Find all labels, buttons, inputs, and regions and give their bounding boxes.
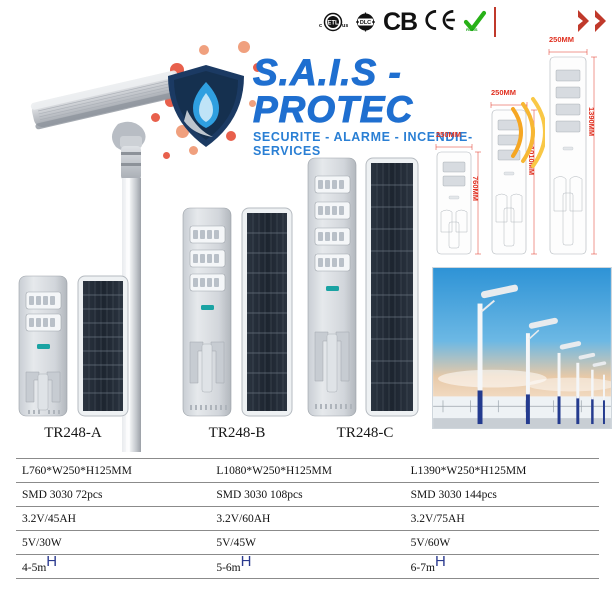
height-symbol-icon: H (46, 553, 57, 570)
tech-height-label-c: 1390MM (587, 107, 596, 136)
chevron-right-icon[interactable] (593, 8, 609, 34)
tech-outline-c (543, 45, 601, 258)
product-photo-tr248-a (8, 268, 138, 428)
svg-text:c: c (319, 23, 322, 29)
next-page-chevrons[interactable] (576, 8, 609, 34)
height-value-b: 5-6m (216, 562, 240, 574)
product-label-tr248-b: TR248-B (172, 425, 302, 442)
cell-height-c: 6-7mH (405, 555, 599, 579)
product-sheet-page: c ETL us DLC CB (0, 0, 615, 600)
cell-battery-b: 3.2V/60AH (210, 507, 404, 531)
installation-photo (432, 267, 612, 429)
svg-text:ETL: ETL (327, 21, 339, 27)
cert-divider (494, 7, 496, 37)
cell-leds-a: SMD 3030 72pcs (16, 483, 210, 507)
cb-icon: CB (383, 10, 417, 35)
etl-listed-icon: c ETL us (318, 11, 348, 33)
cell-height-b: 5-6mH (210, 555, 404, 579)
cell-dimensions-a: L760*W250*H125MM (16, 459, 210, 483)
tech-width-label-c: 250MM (549, 35, 574, 44)
signal-waves-icon (505, 95, 545, 170)
cell-height-a: 4-5mH (16, 555, 210, 579)
table-row: L760*W250*H125MM L1080*W250*H125MM L1390… (16, 459, 599, 483)
table-row: 3.2V/45AH 3.2V/60AH 3.2V/75AH (16, 507, 599, 531)
cell-battery-c: 3.2V/75AH (405, 507, 599, 531)
cell-solar-a: 5V/30W (16, 531, 210, 555)
sais-protec-watermark: S.A.I.S - PROTEC SECURITE - ALARME - INC… (163, 62, 533, 150)
height-symbol-icon: H (241, 553, 252, 570)
street-lights-scene (433, 268, 611, 428)
product-unit-tr248-b: TR248-B (172, 200, 302, 428)
specifications-table: L760*W250*H125MM L1080*W250*H125MM L1390… (16, 458, 599, 579)
chevron-right-icon[interactable] (576, 8, 592, 34)
cell-leds-b: SMD 3030 108pcs (210, 483, 404, 507)
dlc-icon: DLC (353, 11, 378, 33)
table-row: SMD 3030 72pcs SMD 3030 108pcs SMD 3030 … (16, 483, 599, 507)
product-label-tr248-a: TR248-A (8, 425, 138, 442)
height-value-c: 6-7m (411, 562, 435, 574)
tech-drawing-tr248-a: 250MM 760MM (432, 140, 484, 258)
shield-flame-icon (163, 62, 249, 150)
product-photo-tr248-c (300, 150, 430, 428)
tech-width-label-a: 250MM (436, 130, 461, 139)
cell-battery-a: 3.2V/45AH (16, 507, 210, 531)
certification-strip: c ETL us DLC CB (318, 6, 496, 38)
tech-drawing-tr248-c: 250MM 1390MM (543, 45, 601, 258)
cell-solar-c: 5V/60W (405, 531, 599, 555)
table-row: 5V/30W 5V/45W 5V/60W (16, 531, 599, 555)
height-symbol-icon: H (435, 553, 446, 570)
cell-dimensions-c: L1390*W250*H125MM (405, 459, 599, 483)
cell-solar-b: 5V/45W (210, 531, 404, 555)
tech-height-label-a: 760MM (471, 176, 480, 201)
height-value-a: 4-5m (22, 562, 46, 574)
rohs-label: RoHS (466, 27, 478, 32)
cell-dimensions-b: L1080*W250*H125MM (210, 459, 404, 483)
product-label-tr248-c: TR248-C (300, 425, 430, 442)
product-photo-tr248-b (172, 200, 302, 428)
rohs-check-icon: RoHS (463, 10, 487, 34)
svg-text:us: us (342, 23, 348, 29)
product-unit-tr248-c: TR248-C (300, 150, 430, 428)
svg-text:DLC: DLC (360, 20, 371, 26)
product-unit-tr248-a: TR248-A (8, 268, 138, 428)
table-row: 4-5mH 5-6mH 6-7mH (16, 555, 599, 579)
cell-leds-c: SMD 3030 144pcs (405, 483, 599, 507)
ce-icon (422, 7, 458, 38)
